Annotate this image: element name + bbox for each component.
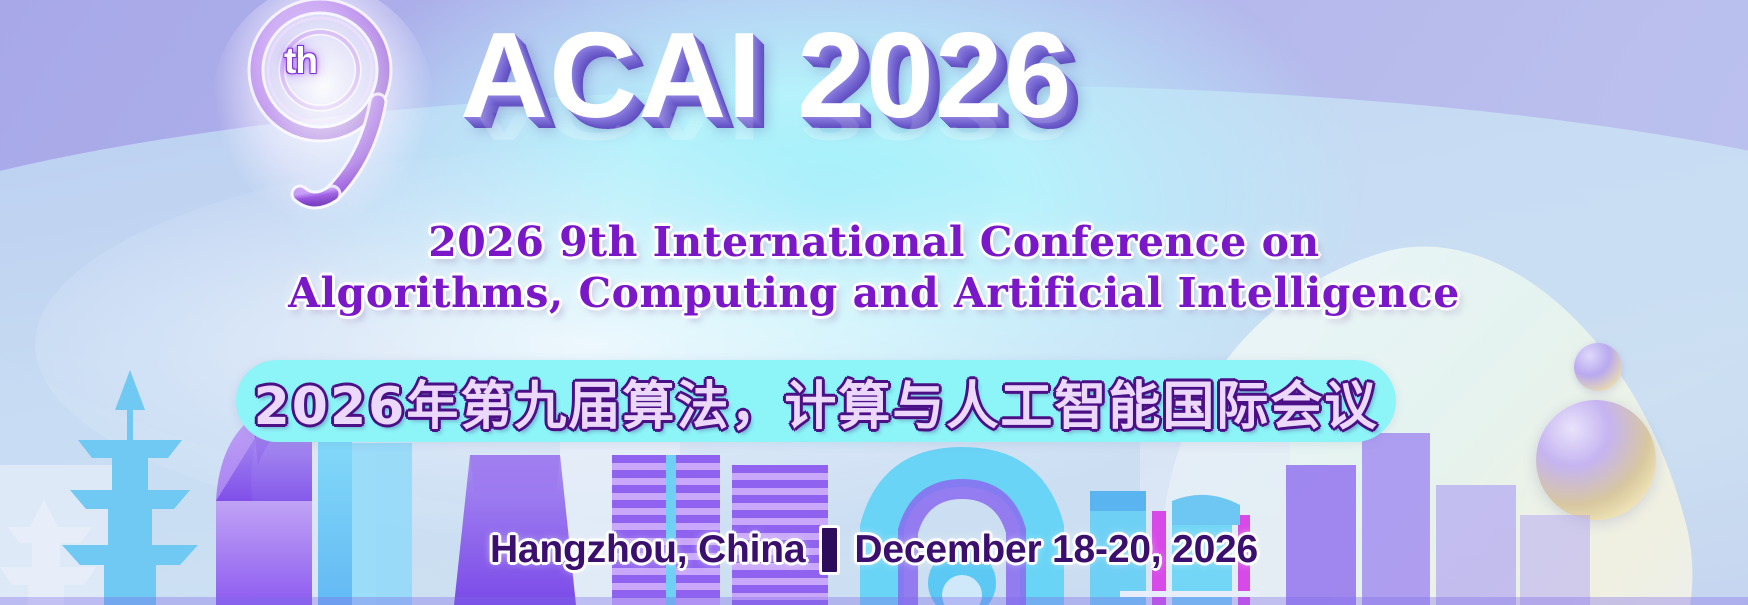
subtitle-english-line-1: 2026 9th International Conference on (0, 222, 1748, 264)
conference-banner: th ACAI 2026 ACAI 2026 2026 9th Internat… (0, 0, 1748, 605)
location-date-row: Hangzhou, China December 18-20, 2026 (0, 528, 1748, 572)
main-title-block: ACAI 2026 ACAI 2026 (460, 14, 1160, 204)
separator-bar (822, 528, 837, 572)
main-title-reflection: ACAI 2026 (460, 83, 1073, 150)
chinese-title: 2026年第九届算法，计算与人工智能国际会议 (236, 360, 1396, 442)
arch-structure (860, 447, 1064, 605)
subtitle-english-line-2: Algorithms, Computing and Artificial Int… (0, 273, 1748, 315)
location-label: Hangzhou, China (490, 528, 805, 572)
dates-label: December 18-20, 2026 (854, 528, 1258, 572)
ninth-edition-badge: th (228, 0, 418, 213)
badge-th-label: th (284, 40, 317, 82)
